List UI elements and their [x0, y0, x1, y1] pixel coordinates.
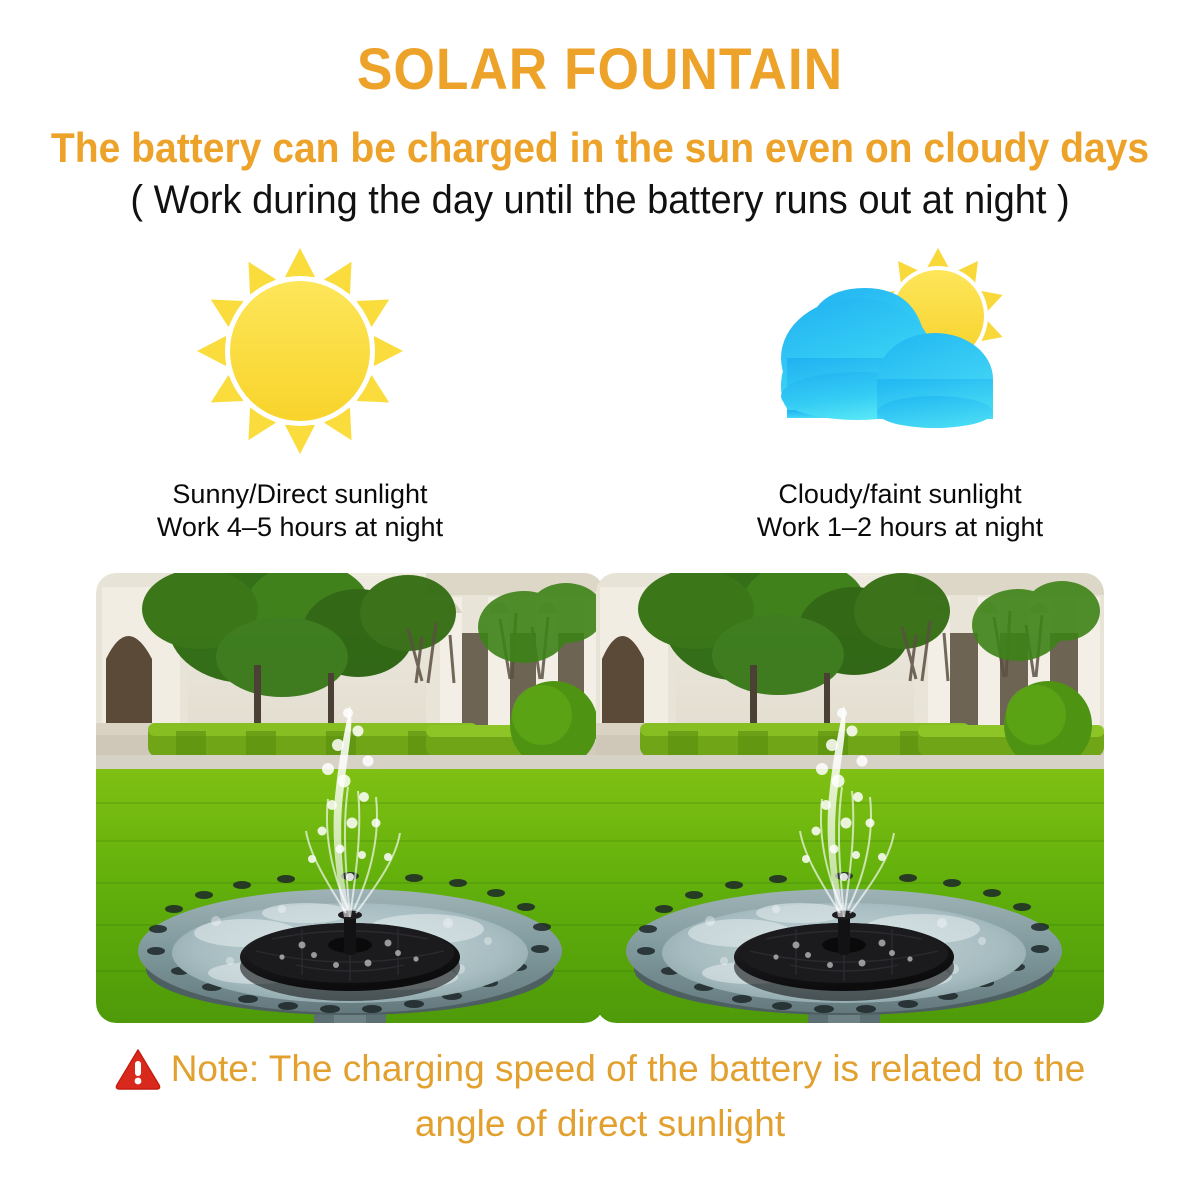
caption-sunny: Sunny/Direct sunlight Work 4–5 hours at … — [0, 478, 600, 544]
caption-sunny-line1: Sunny/Direct sunlight — [0, 478, 600, 511]
photo-sunny — [96, 573, 604, 1023]
note-line-1: Note: The charging speed of the battery … — [0, 1046, 1200, 1101]
warning-triangle-icon — [115, 1048, 161, 1101]
sun-behind-cloud-icon — [775, 246, 1025, 446]
note-block: Note: The charging speed of the battery … — [0, 1046, 1200, 1147]
condition-cloudy-icon-cell — [600, 246, 1200, 456]
note-text-line1: Note: The charging speed of the battery … — [171, 1048, 1086, 1089]
weather-icon-row — [0, 246, 1200, 456]
infographic-page: SOLAR FOUNTAIN The battery can be charge… — [0, 0, 1200, 1200]
note-text-line2: angle of direct sunlight — [0, 1101, 1200, 1147]
photo-cloudy-scene — [596, 573, 1104, 1023]
page-subnote: ( Work during the day until the battery … — [30, 178, 1170, 223]
caption-cloudy-line2: Work 1–2 hours at night — [600, 511, 1200, 544]
page-title: SOLAR FOUNTAIN — [48, 36, 1152, 103]
page-subtitle: The battery can be charged in the sun ev… — [42, 124, 1158, 172]
caption-sunny-line2: Work 4–5 hours at night — [0, 511, 600, 544]
sun-icon — [195, 246, 405, 456]
caption-cloudy-line1: Cloudy/faint sunlight — [600, 478, 1200, 511]
photo-cloudy — [596, 573, 1104, 1023]
photo-sunny-scene — [96, 573, 604, 1023]
condition-sunny-icon-cell — [0, 246, 600, 456]
caption-cloudy: Cloudy/faint sunlight Work 1–2 hours at … — [600, 478, 1200, 544]
